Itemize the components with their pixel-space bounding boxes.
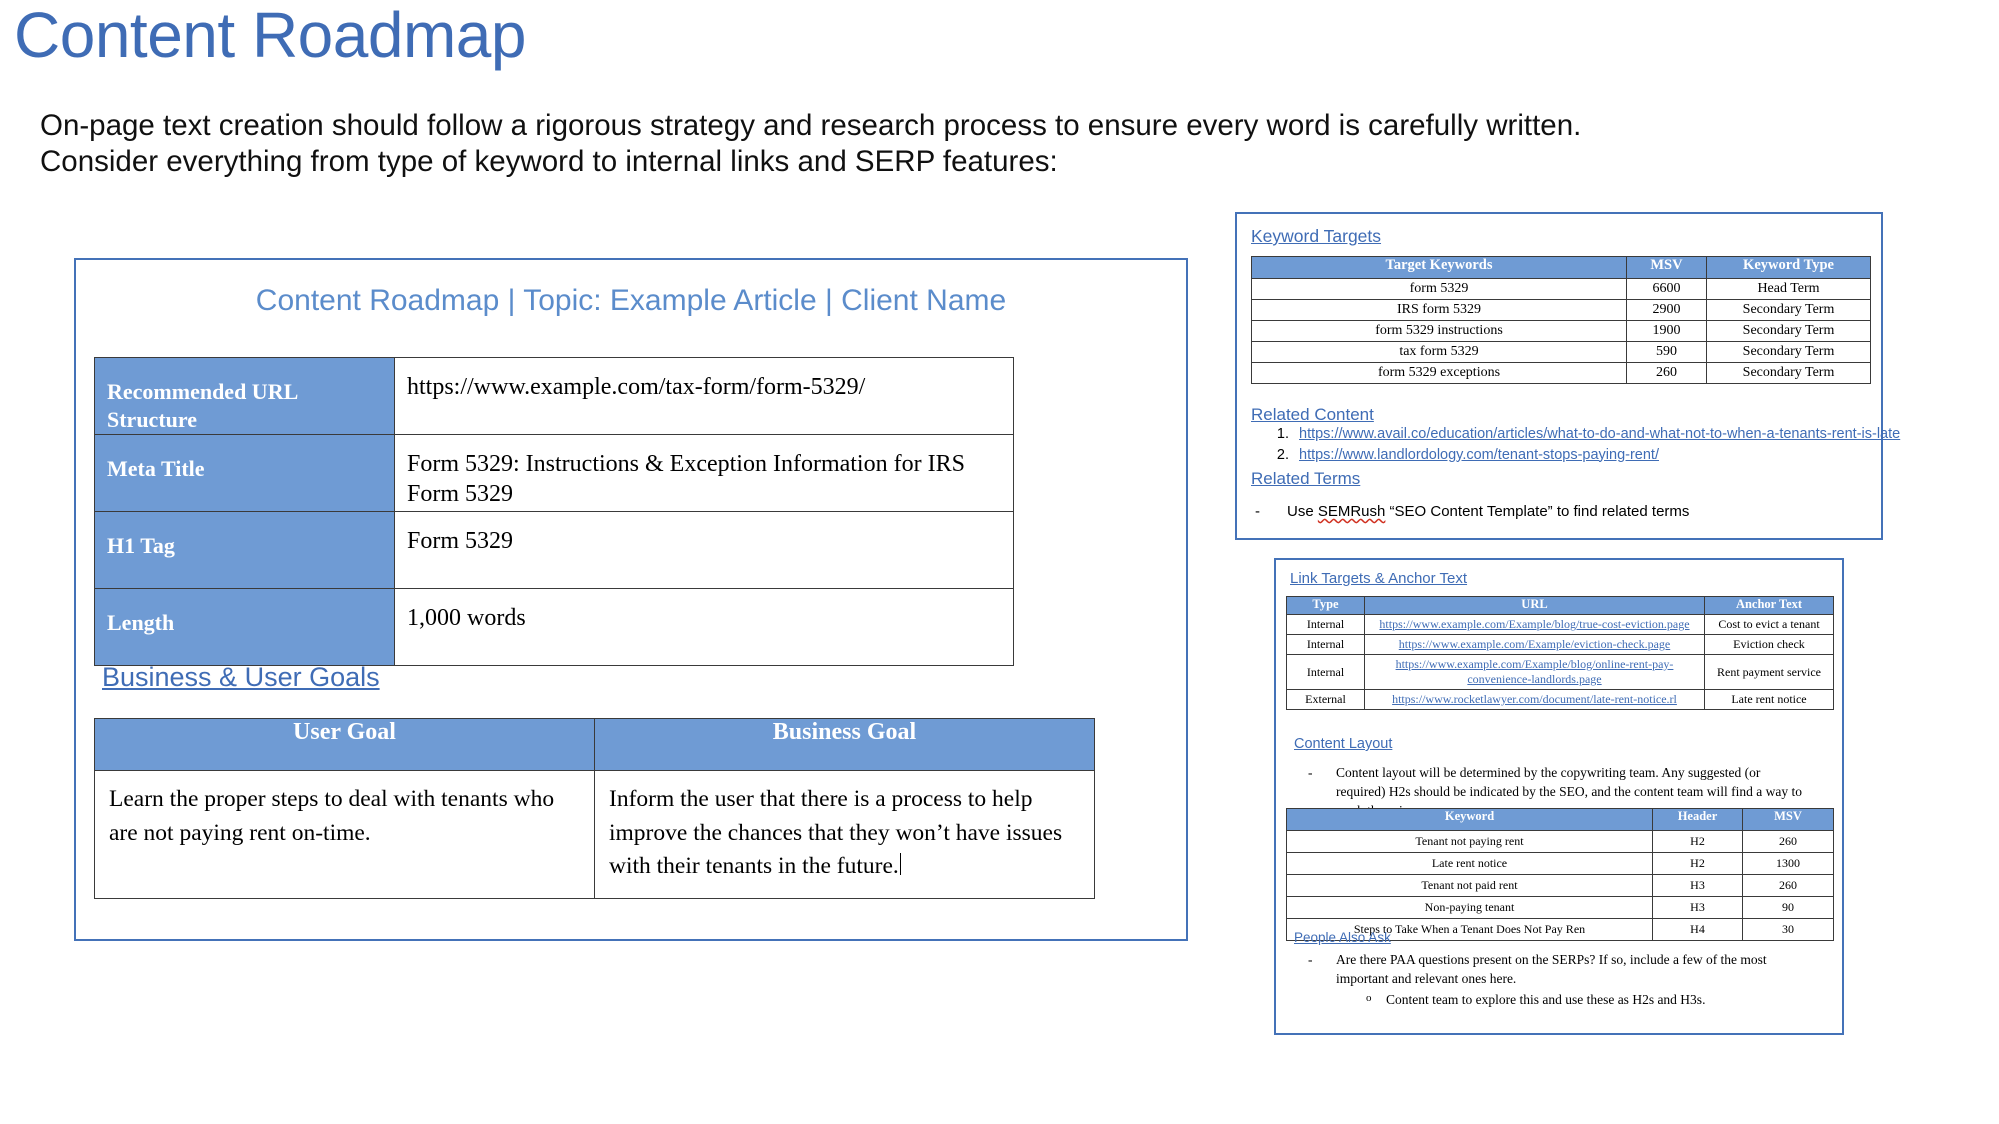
table-row: H1 Tag Form 5329	[95, 512, 1014, 589]
bullet-dash-icon: -	[1308, 764, 1313, 783]
people-also-ask-note: -Are there PAA questions present on the …	[1336, 950, 1822, 988]
keyword-cell: IRS form 5329	[1252, 300, 1627, 321]
keyword-type-cell: Secondary Term	[1707, 363, 1871, 384]
column-header-type: Type	[1287, 597, 1365, 615]
link-targets-table: Type URL Anchor Text Internal https://ww…	[1286, 596, 1834, 710]
link-targets-card: Link Targets & Anchor Text Type URL Anch…	[1274, 558, 1844, 1035]
meta-value: https://www.example.com/tax-form/form-53…	[395, 358, 1014, 435]
link-anchor-cell: Late rent notice	[1705, 690, 1834, 710]
related-content-link[interactable]: https://www.landlordology.com/tenant-sto…	[1299, 447, 1659, 463]
table-row: Internal https://www.example.com/Example…	[1287, 655, 1834, 690]
link-url-cell: https://www.rocketlawyer.com/document/la…	[1365, 690, 1705, 710]
layout-keyword-cell: Late rent notice	[1287, 853, 1653, 875]
table-row: Tenant not paying rent H2 260	[1287, 831, 1834, 853]
layout-keyword-cell: Non-paying tenant	[1287, 897, 1653, 919]
meta-value: Form 5329	[395, 512, 1014, 589]
table-row: Late rent notice H2 1300	[1287, 853, 1834, 875]
meta-value: Form 5329: Instructions & Exception Info…	[395, 435, 1014, 512]
subtitle-line-1: On-page text creation should follow a ri…	[40, 108, 1920, 144]
msv-cell: 2900	[1627, 300, 1707, 321]
layout-header-cell: H3	[1653, 897, 1743, 919]
keyword-cell: form 5329	[1252, 279, 1627, 300]
table-row: External https://www.rocketlawyer.com/do…	[1287, 690, 1834, 710]
table-row: form 5329 6600 Head Term	[1252, 279, 1871, 300]
keyword-cell: form 5329 exceptions	[1252, 363, 1627, 384]
link-anchor-cell: Rent payment service	[1705, 655, 1834, 690]
column-header-msv: MSV	[1743, 809, 1834, 831]
layout-header-cell: H2	[1653, 853, 1743, 875]
column-header-business-goal: Business Goal	[595, 719, 1095, 771]
meta-key: H1 Tag	[95, 512, 395, 589]
column-header-anchor-text: Anchor Text	[1705, 597, 1834, 615]
column-header-keyword-type: Keyword Type	[1707, 257, 1871, 279]
table-row: Tenant not paid rent H3 260	[1287, 875, 1834, 897]
link-url[interactable]: https://www.example.com/Example/blog/onl…	[1396, 657, 1674, 686]
link-anchor-cell: Eviction check	[1705, 635, 1834, 655]
layout-msv-cell: 1300	[1743, 853, 1834, 875]
content-layout-table: Keyword Header MSV Tenant not paying ren…	[1286, 808, 1834, 941]
keyword-type-cell: Secondary Term	[1707, 321, 1871, 342]
people-also-ask-heading: People Also Ask	[1294, 930, 1391, 945]
column-header-user-goal: User Goal	[95, 719, 595, 771]
bullet-dash-icon: -	[1255, 503, 1260, 520]
layout-header-cell: H4	[1653, 919, 1743, 941]
table-row: Meta Title Form 5329: Instructions & Exc…	[95, 435, 1014, 512]
related-content-list: https://www.avail.co/education/articles/…	[1251, 424, 1900, 465]
table-row: Non-paying tenant H3 90	[1287, 897, 1834, 919]
page-title: Content Roadmap	[14, 2, 526, 69]
keyword-type-cell: Secondary Term	[1707, 300, 1871, 321]
page-subtitle: On-page text creation should follow a ri…	[40, 108, 1920, 180]
table-row: tax form 5329 590 Secondary Term	[1252, 342, 1871, 363]
related-terms-item: -Use SEMRush “SEO Content Template” to f…	[1287, 503, 1689, 520]
link-url-cell: https://www.example.com/Example/blog/tru…	[1365, 615, 1705, 635]
goals-table: User Goal Business Goal Learn the proper…	[94, 718, 1095, 899]
content-roadmap-document-card: Content Roadmap | Topic: Example Article…	[74, 258, 1188, 941]
meta-key: Recommended URL Structure	[95, 358, 395, 435]
table-row: Learn the proper steps to deal with tena…	[95, 771, 1095, 899]
layout-keyword-cell: Tenant not paying rent	[1287, 831, 1653, 853]
related-terms-post: “SEO Content Template” to find related t…	[1385, 503, 1689, 520]
text-cursor	[900, 853, 901, 875]
msv-cell: 1900	[1627, 321, 1707, 342]
column-header-target-keywords: Target Keywords	[1252, 257, 1627, 279]
document-heading: Content Roadmap | Topic: Example Article…	[76, 284, 1186, 318]
link-url[interactable]: https://www.example.com/Example/eviction…	[1399, 637, 1670, 651]
bullet-dash-icon: -	[1308, 950, 1313, 969]
table-header-row: Target Keywords MSV Keyword Type	[1252, 257, 1871, 279]
link-type-cell: Internal	[1287, 615, 1365, 635]
paa-sub-text: Content team to explore this and use the…	[1386, 992, 1705, 1007]
keyword-cell: form 5329 instructions	[1252, 321, 1627, 342]
table-row: Internal https://www.example.com/Example…	[1287, 615, 1834, 635]
subtitle-line-2: Consider everything from type of keyword…	[40, 144, 1920, 180]
table-row: form 5329 instructions 1900 Secondary Te…	[1252, 321, 1871, 342]
related-terms-tool: SEMRush	[1318, 503, 1386, 520]
link-type-cell: External	[1287, 690, 1365, 710]
business-goal-text: Inform the user that there is a process …	[609, 786, 1062, 879]
table-header-row: Keyword Header MSV	[1287, 809, 1834, 831]
layout-msv-cell: 260	[1743, 831, 1834, 853]
content-layout-heading: Content Layout	[1294, 736, 1392, 752]
msv-cell: 260	[1627, 363, 1707, 384]
layout-header-cell: H2	[1653, 831, 1743, 853]
business-goal-cell: Inform the user that there is a process …	[595, 771, 1095, 899]
table-header-row: User Goal Business Goal	[95, 719, 1095, 771]
table-row: Length 1,000 words	[95, 589, 1014, 666]
link-url[interactable]: https://www.rocketlawyer.com/document/la…	[1392, 692, 1677, 706]
user-goal-cell: Learn the proper steps to deal with tena…	[95, 771, 595, 899]
list-item: https://www.landlordology.com/tenant-sto…	[1293, 445, 1900, 466]
layout-header-cell: H3	[1653, 875, 1743, 897]
bullet-circle-icon: o	[1366, 992, 1372, 1004]
layout-msv-cell: 30	[1743, 919, 1834, 941]
meta-value: 1,000 words	[395, 589, 1014, 666]
link-url[interactable]: https://www.example.com/Example/blog/tru…	[1379, 617, 1689, 631]
table-row: form 5329 exceptions 260 Secondary Term	[1252, 363, 1871, 384]
related-terms-heading: Related Terms	[1251, 469, 1360, 489]
table-row: Internal https://www.example.com/Example…	[1287, 635, 1834, 655]
link-targets-heading: Link Targets & Anchor Text	[1290, 570, 1467, 587]
layout-msv-cell: 90	[1743, 897, 1834, 919]
metadata-table: Recommended URL Structure https://www.ex…	[94, 357, 1014, 666]
link-url-cell: https://www.example.com/Example/eviction…	[1365, 635, 1705, 655]
link-anchor-cell: Cost to evict a tenant	[1705, 615, 1834, 635]
column-header-keyword: Keyword	[1287, 809, 1653, 831]
link-url-cell: https://www.example.com/Example/blog/onl…	[1365, 655, 1705, 690]
layout-keyword-cell: Tenant not paid rent	[1287, 875, 1653, 897]
table-row: IRS form 5329 2900 Secondary Term	[1252, 300, 1871, 321]
keyword-type-cell: Secondary Term	[1707, 342, 1871, 363]
table-header-row: Type URL Anchor Text	[1287, 597, 1834, 615]
keyword-targets-card: Keyword Targets Target Keywords MSV Keyw…	[1235, 212, 1883, 540]
column-header-header: Header	[1653, 809, 1743, 831]
business-user-goals-heading: Business & User Goals	[102, 662, 380, 693]
column-header-url: URL	[1365, 597, 1705, 615]
link-type-cell: Internal	[1287, 635, 1365, 655]
keyword-targets-table: Target Keywords MSV Keyword Type form 53…	[1251, 256, 1871, 384]
column-header-msv: MSV	[1627, 257, 1707, 279]
list-item: https://www.avail.co/education/articles/…	[1293, 424, 1900, 445]
keyword-type-cell: Head Term	[1707, 279, 1871, 300]
keyword-targets-heading: Keyword Targets	[1251, 226, 1381, 247]
meta-key: Length	[95, 589, 395, 666]
related-terms-pre: Use	[1287, 503, 1318, 520]
keyword-cell: tax form 5329	[1252, 342, 1627, 363]
meta-key: Meta Title	[95, 435, 395, 512]
msv-cell: 6600	[1627, 279, 1707, 300]
table-row: Recommended URL Structure https://www.ex…	[95, 358, 1014, 435]
people-also-ask-subitem: oContent team to explore this and use th…	[1386, 992, 1705, 1008]
layout-msv-cell: 260	[1743, 875, 1834, 897]
msv-cell: 590	[1627, 342, 1707, 363]
related-content-heading: Related Content	[1251, 405, 1374, 425]
link-type-cell: Internal	[1287, 655, 1365, 690]
related-content-link[interactable]: https://www.avail.co/education/articles/…	[1299, 426, 1900, 442]
paa-note-text: Are there PAA questions present on the S…	[1336, 952, 1767, 986]
